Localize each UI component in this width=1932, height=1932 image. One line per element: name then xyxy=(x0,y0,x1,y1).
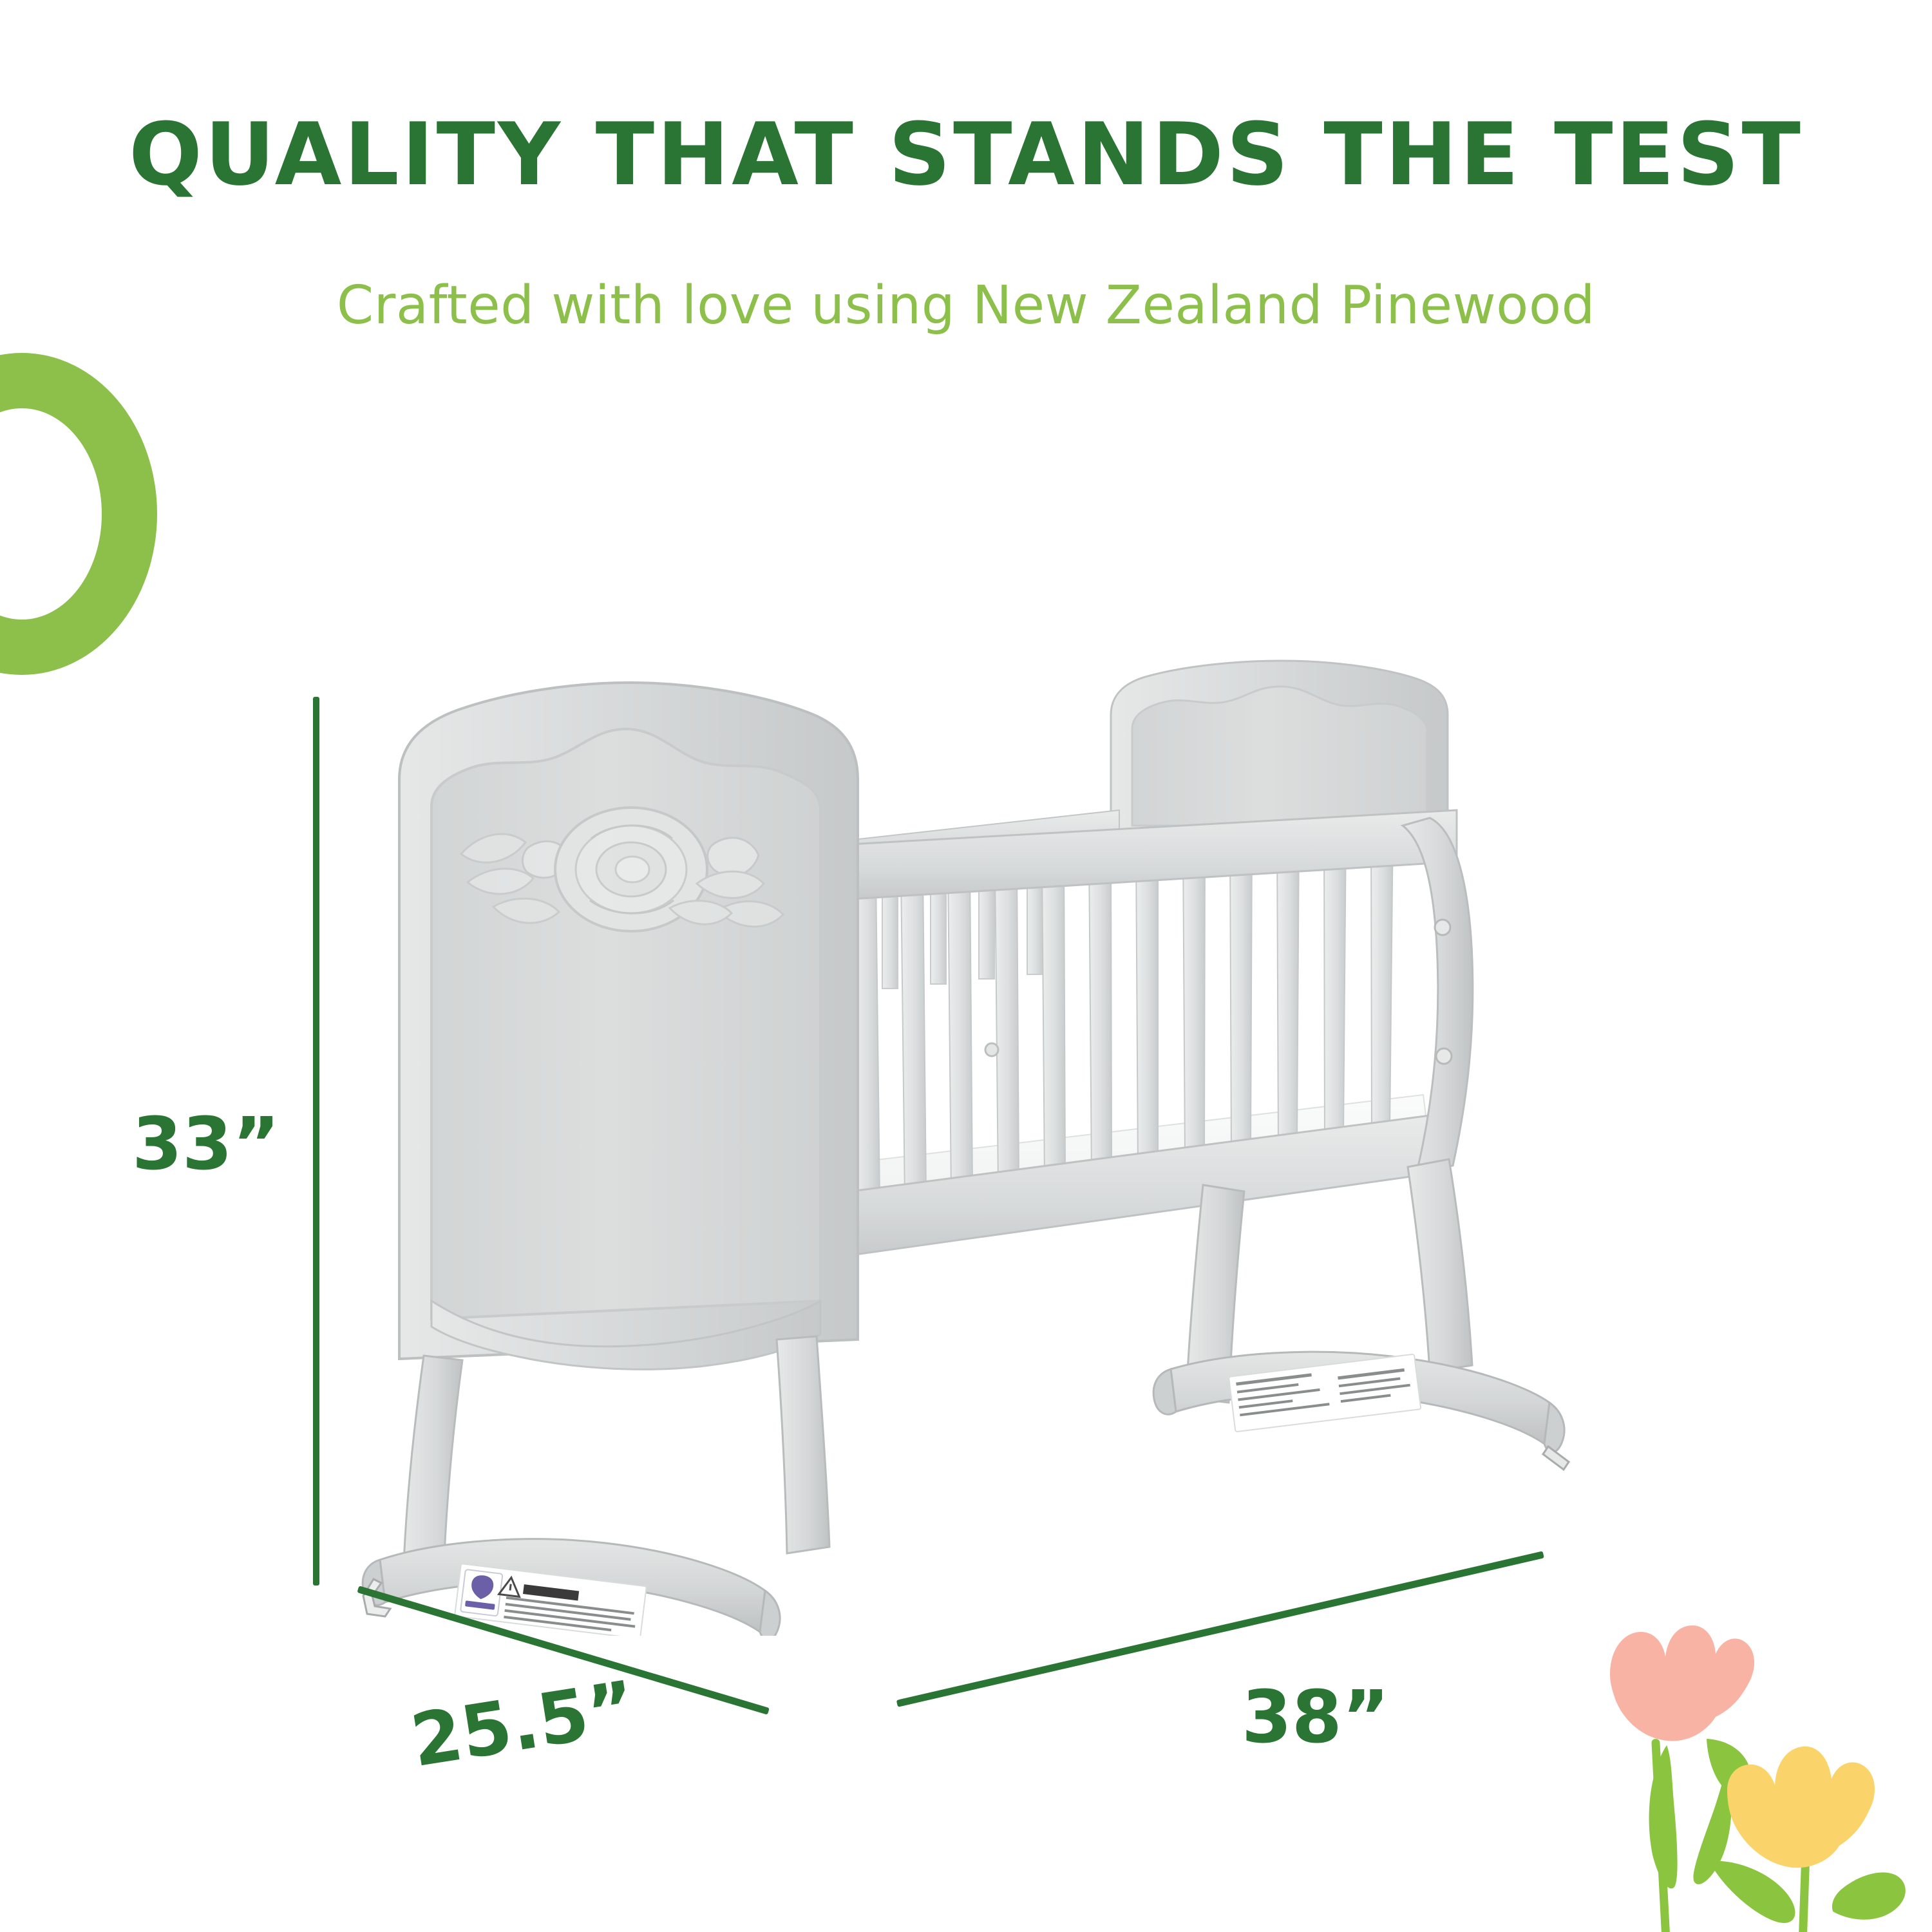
height-dimension-label: 33” xyxy=(132,1103,279,1186)
yellow-tulip-icon xyxy=(1727,1747,1875,1868)
product-image-cradle xyxy=(335,657,1610,1636)
depth-dimension-label: 25.5” xyxy=(406,1665,641,1783)
page-subtitle: Crafted with love using New Zealand Pine… xyxy=(0,277,1932,335)
screw-icon xyxy=(1436,1048,1452,1064)
infographic-canvas: QUALITY THAT STANDS THE TEST Crafted wit… xyxy=(0,0,1932,1932)
green-ring-icon xyxy=(0,353,157,675)
width-dimension-label: 38” xyxy=(1242,1676,1389,1759)
tulip-decoration xyxy=(1578,1578,1932,1932)
page-title: QUALITY THAT STANDS THE TEST xyxy=(0,109,1932,200)
cradle-leg-back-right xyxy=(1408,1159,1472,1372)
height-dimension-line xyxy=(313,697,319,1586)
decorative-ring-container xyxy=(0,353,157,675)
cradle-rocker-base-right xyxy=(1153,1352,1569,1470)
cradle-leg-back-left xyxy=(777,1336,829,1553)
pink-tulip-icon xyxy=(1610,1625,1754,1741)
screw-icon xyxy=(1435,920,1450,935)
leaf-icon xyxy=(1832,1873,1906,1920)
leaf-icon xyxy=(1709,1861,1795,1923)
cradle-rocker-base-left xyxy=(363,1539,780,1636)
cradle-near-headboard xyxy=(399,683,858,1369)
screw-icon xyxy=(985,1043,998,1056)
